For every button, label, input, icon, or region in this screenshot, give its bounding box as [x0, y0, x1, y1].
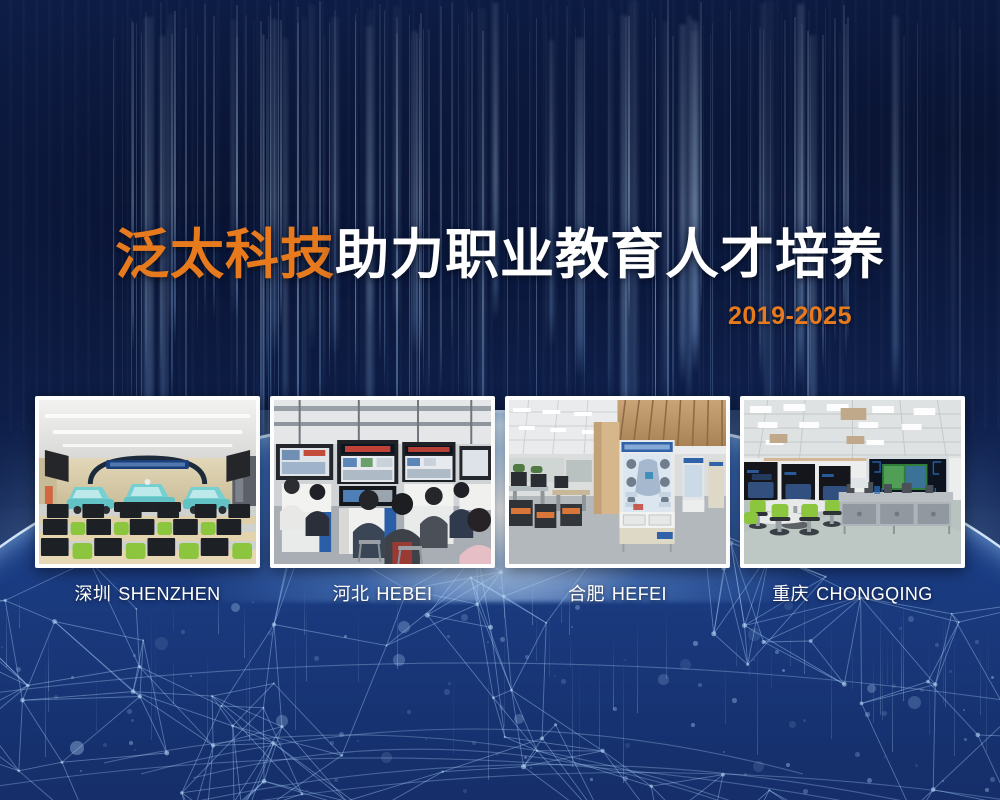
- caption-en: CHONGQING: [816, 584, 933, 604]
- title-tagline: 助力职业教育人才培养: [335, 223, 885, 286]
- hefei-automotive-control-lab: [509, 400, 726, 564]
- caption-en: HEBEI: [376, 584, 432, 604]
- caption-chongqing: 重庆CHONGQING: [740, 580, 965, 614]
- caption-cn: 深圳: [74, 584, 111, 604]
- poster-canvas: 泛太科技助力职业教育人才培养 2019-2025: [0, 0, 1000, 800]
- photo-card-chongqing[interactable]: [740, 396, 965, 568]
- caption-en: HEFEI: [612, 584, 667, 604]
- photo-card-hefei[interactable]: [505, 396, 730, 568]
- chongqing-industrial-automation-lab: [744, 400, 961, 564]
- caption-shenzhen: 深圳SHENZHEN: [35, 580, 260, 614]
- brand-name: 泛太科技: [115, 223, 335, 286]
- caption-en: SHENZHEN: [118, 584, 220, 604]
- title-block: 泛太科技助力职业教育人才培养 2019-2025: [0, 228, 1000, 331]
- caption-cn: 重庆: [772, 584, 809, 604]
- shenzhen-smart-vehicle-lab: [39, 400, 256, 564]
- hebei-electrical-training-lab: [274, 400, 491, 564]
- photo-gallery: [35, 396, 965, 568]
- page-title: 泛太科技助力职业教育人才培养: [0, 228, 1000, 282]
- caption-cn: 合肥: [568, 584, 605, 604]
- caption-cn: 河北: [333, 584, 370, 604]
- photo-card-shenzhen[interactable]: [35, 396, 260, 568]
- photo-captions: 深圳SHENZHEN 河北HEBEI 合肥HEFEI 重庆CHONGQING: [35, 580, 965, 614]
- caption-hefei: 合肥HEFEI: [505, 580, 730, 614]
- photo-card-hebei[interactable]: [270, 396, 495, 568]
- year-range: 2019-2025: [0, 302, 852, 331]
- caption-hebei: 河北HEBEI: [270, 580, 495, 614]
